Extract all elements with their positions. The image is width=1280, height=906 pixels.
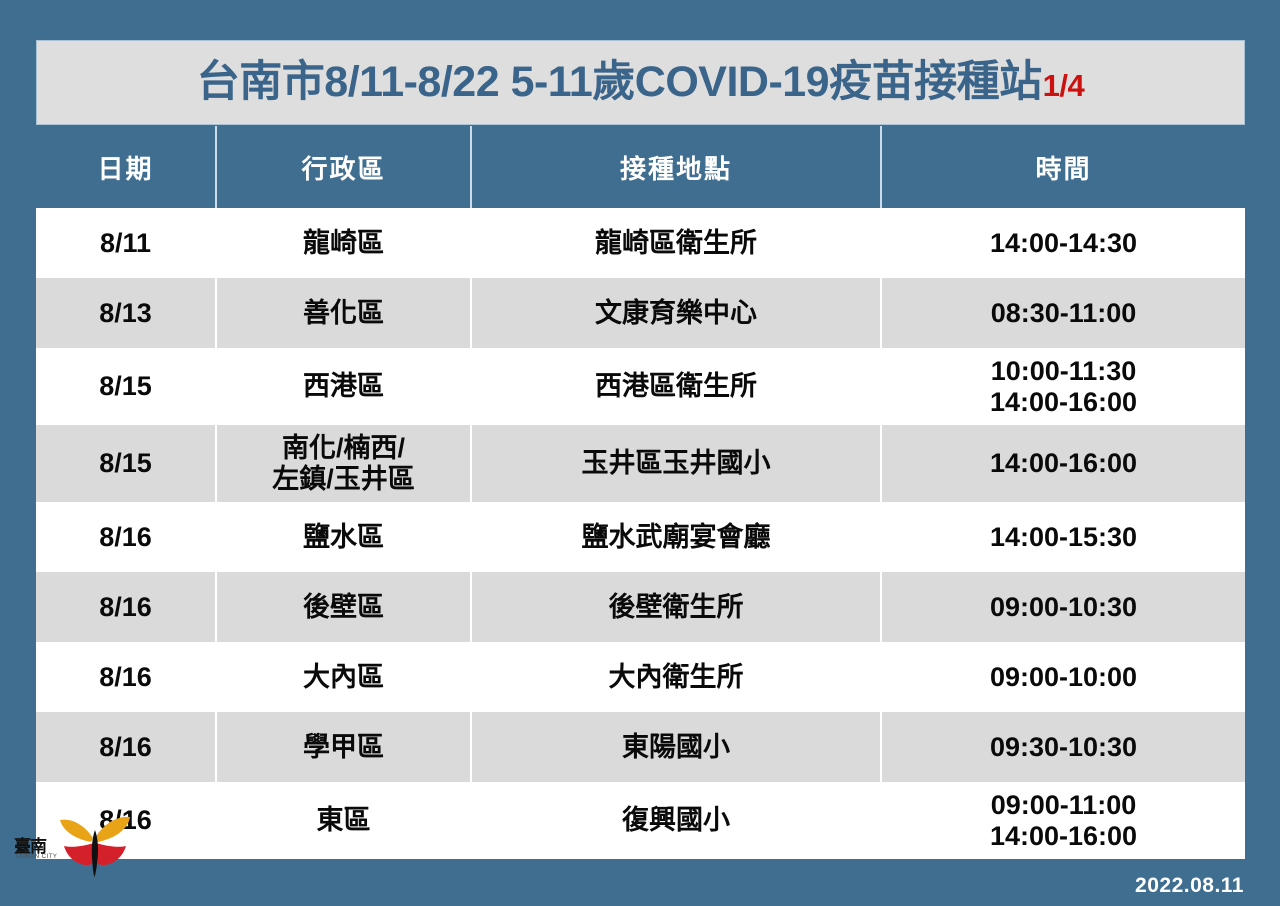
page-title: 台南市8/11-8/22 5-11歲COVID-19疫苗接種站1/4 [197,61,1084,104]
cell-district: 龍崎區 [216,208,471,278]
cell-time: 14:00-15:30 [881,502,1245,572]
cell-district: 善化區 [216,278,471,348]
cell-date: 8/16 [36,712,216,782]
cell-site: 大內衛生所 [471,642,881,712]
table-header: 日期 行政區 接種地點 時間 [36,126,1245,208]
cell-time: 09:00-10:00 [881,642,1245,712]
cell-district: 學甲區 [216,712,471,782]
cell-site: 復興國小 [471,782,881,859]
cell-district-line1: 龍崎區 [221,228,466,258]
table-row: 8/11 龍崎區 龍崎區衛生所 14:00-14:30 [36,208,1245,278]
cell-time-line2: 14:00-16:00 [886,821,1241,851]
cell-time: 09:00-10:30 [881,572,1245,642]
cell-time-line2: 14:00-16:00 [886,387,1241,417]
cell-district: 南化/楠西/ 左鎮/玉井區 [216,425,471,502]
cell-district-line1: 善化區 [221,298,466,328]
cell-date: 8/15 [36,425,216,502]
table-row: 8/16 學甲區 東陽國小 09:30-10:30 [36,712,1245,782]
cell-site: 文康育樂中心 [471,278,881,348]
table-row: 8/16 東區 復興國小 09:00-11:00 14:00-16:00 [36,782,1245,859]
cell-time: 09:30-10:30 [881,712,1245,782]
cell-district-line1: 東區 [221,805,466,835]
table-row: 8/15 西港區 西港區衛生所 10:00-11:30 14:00-16:00 [36,348,1245,425]
cell-time-line1: 09:00-10:00 [886,662,1241,692]
poster-title-bar: 台南市8/11-8/22 5-11歲COVID-19疫苗接種站1/4 [36,40,1245,125]
cell-time: 14:00-16:00 [881,425,1245,502]
cell-time-line1: 09:00-10:30 [886,592,1241,622]
table-row: 8/16 後壁區 後壁衛生所 09:00-10:30 [36,572,1245,642]
column-header-time: 時間 [881,126,1245,208]
cell-time: 10:00-11:30 14:00-16:00 [881,348,1245,425]
table-row: 8/16 大內區 大內衛生所 09:00-10:00 [36,642,1245,712]
cell-time: 08:30-11:00 [881,278,1245,348]
table-row: 8/15 南化/楠西/ 左鎮/玉井區 玉井區玉井國小 14:00-16:00 [36,425,1245,502]
column-header-date: 日期 [36,126,216,208]
cell-date: 8/16 [36,642,216,712]
cell-site: 後壁衛生所 [471,572,881,642]
cell-district-line1: 西港區 [221,371,466,401]
table-row: 8/16 鹽水區 鹽水武廟宴會廳 14:00-15:30 [36,502,1245,572]
cell-site: 東陽國小 [471,712,881,782]
cell-time-line1: 14:00-14:30 [886,228,1241,258]
poster-canvas: 台南市8/11-8/22 5-11歲COVID-19疫苗接種站1/4 日期 行政… [0,0,1280,906]
cell-date: 8/16 [36,502,216,572]
cell-time-line1: 10:00-11:30 [886,356,1241,386]
table-row: 8/13 善化區 文康育樂中心 08:30-11:00 [36,278,1245,348]
table-header-row: 日期 行政區 接種地點 時間 [36,126,1245,208]
page-title-marker: 1/4 [1043,70,1085,101]
table-body: 8/11 龍崎區 龍崎區衛生所 14:00-14:30 8/13 善化區 文康育… [36,208,1245,859]
cell-site: 龍崎區衛生所 [471,208,881,278]
cell-district: 後壁區 [216,572,471,642]
cell-time-line1: 14:00-16:00 [886,448,1241,478]
cell-date: 8/15 [36,348,216,425]
cell-site: 西港區衛生所 [471,348,881,425]
column-header-district: 行政區 [216,126,471,208]
cell-district-line1: 後壁區 [221,592,466,622]
column-header-site: 接種地點 [471,126,881,208]
cell-district: 西港區 [216,348,471,425]
cell-time: 14:00-14:30 [881,208,1245,278]
cell-district-line1: 南化/楠西/ [221,433,466,463]
cell-date: 8/13 [36,278,216,348]
page-title-main: 台南市8/11-8/22 5-11歲COVID-19疫苗接種站 [197,61,1042,104]
cell-time-line1: 09:30-10:30 [886,732,1241,762]
cell-date: 8/16 [36,572,216,642]
cell-district: 鹽水區 [216,502,471,572]
cell-district-line1: 學甲區 [221,732,466,762]
logo-roman-text: TAINAN CITY [15,854,57,860]
footer-bar [0,864,1280,906]
cell-site: 鹽水武廟宴會廳 [471,502,881,572]
cell-district-line1: 鹽水區 [221,522,466,552]
cell-time-line1: 08:30-11:00 [886,298,1241,328]
cell-time: 09:00-11:00 14:00-16:00 [881,782,1245,859]
cell-site: 玉井區玉井國小 [471,425,881,502]
vaccination-schedule-table: 日期 行政區 接種地點 時間 8/11 龍崎區 龍崎區衛生所 14:00-14:… [36,126,1245,859]
cell-time-line1: 09:00-11:00 [886,790,1241,820]
tainan-city-logo: 臺南 TAINAN CITY [14,816,134,878]
cell-district: 東區 [216,782,471,859]
cell-district-line1: 大內區 [221,662,466,692]
cell-district-line2: 左鎮/玉井區 [221,464,466,494]
cell-district: 大內區 [216,642,471,712]
footer-date: 2022.08.11 [1135,874,1244,898]
butterfly-icon [56,816,134,878]
cell-date: 8/11 [36,208,216,278]
cell-time-line1: 14:00-15:30 [886,522,1241,552]
